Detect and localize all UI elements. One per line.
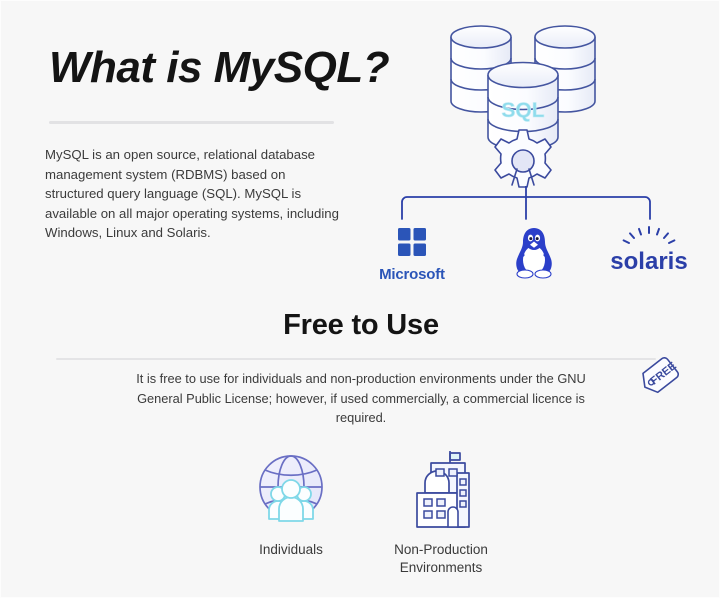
- mysql-infographic: What is MySQL? MySQL is an open source, …: [0, 0, 720, 598]
- database-stack-graphic: SQL: [433, 13, 613, 208]
- page-title: What is MySQL?: [49, 43, 389, 93]
- individuals-icon-wrap: [226, 443, 356, 535]
- section-title-free-to-use: Free to Use: [1, 309, 720, 342]
- solaris-sun-icon: solaris: [597, 225, 701, 277]
- free-to-use-paragraph: It is free to use for individuals and no…: [121, 369, 601, 428]
- globe-people-icon: [247, 445, 335, 533]
- use-case-individuals-label: Individuals: [226, 541, 356, 559]
- database-svg: SQL: [433, 13, 613, 203]
- title-divider: [49, 121, 334, 124]
- linux-penguin-icon: [508, 223, 560, 281]
- price-tag-icon: FREE: [637, 349, 689, 397]
- platform-linux: [479, 223, 589, 288]
- building-icon-wrap: [373, 443, 509, 535]
- platform-solaris: solaris: [594, 225, 704, 282]
- windows-logo-icon: [395, 225, 429, 259]
- free-price-tag: FREE: [637, 349, 689, 402]
- intro-paragraph: MySQL is an open source, relational data…: [45, 145, 345, 243]
- platform-solaris-label: solaris: [610, 248, 687, 275]
- platform-logos-row: Microsoft: [351, 219, 701, 291]
- platform-microsoft-label: Microsoft: [357, 266, 467, 283]
- building-icon: [395, 443, 487, 535]
- platform-microsoft: Microsoft: [357, 225, 467, 283]
- sql-label: SQL: [501, 99, 544, 122]
- use-case-non-production: Non-Production Environments: [373, 443, 509, 577]
- use-case-individuals: Individuals: [226, 443, 356, 559]
- use-case-non-production-label: Non-Production Environments: [373, 541, 509, 577]
- use-cases-row: Individuals: [1, 443, 720, 593]
- section-divider: [56, 358, 656, 360]
